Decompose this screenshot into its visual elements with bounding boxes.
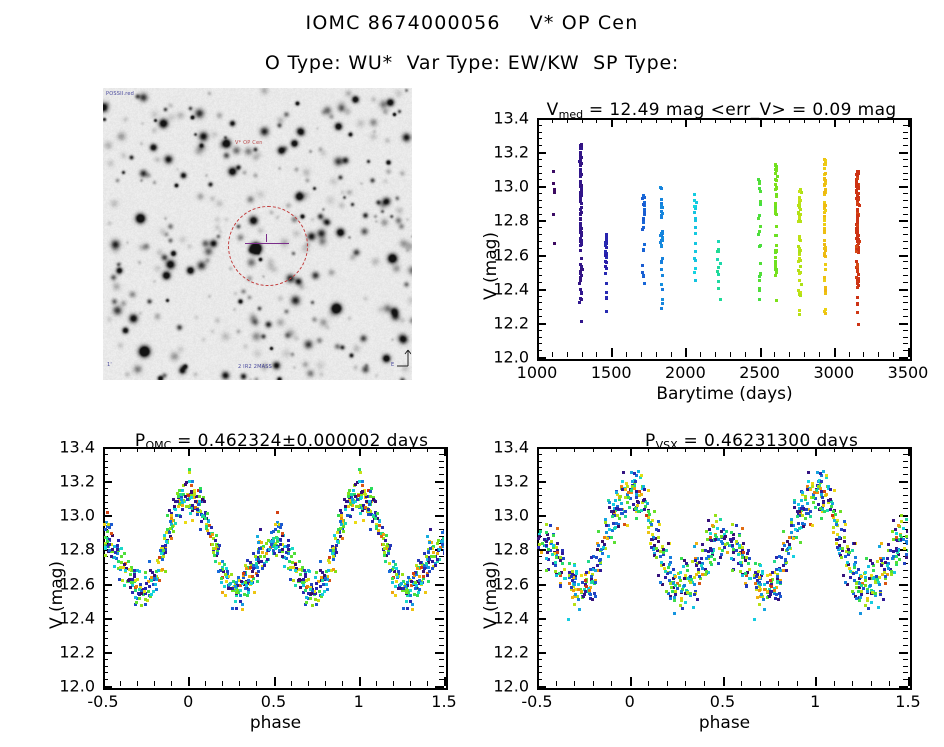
data-point: [674, 575, 677, 578]
data-point: [336, 540, 339, 543]
data-point: [871, 562, 874, 565]
data-point: [683, 584, 686, 587]
data-point: [241, 608, 244, 611]
data-point: [270, 531, 273, 534]
data-point: [281, 555, 284, 558]
data-point: [874, 592, 877, 595]
data-point: [306, 585, 309, 588]
data-point: [273, 552, 276, 555]
data-point: [235, 607, 238, 610]
data-point: [229, 587, 232, 590]
data-point: [211, 543, 214, 546]
sky-survey-label: POSSII.red: [106, 91, 134, 97]
data-point: [783, 544, 786, 547]
sky-scale-label: 1': [107, 362, 112, 368]
data-point: [359, 471, 362, 474]
data-point: [638, 490, 641, 493]
data-point: [580, 143, 583, 146]
data-point: [361, 484, 364, 487]
data-point: [798, 257, 801, 260]
data-point: [212, 551, 215, 554]
data-point: [551, 553, 554, 556]
data-point: [136, 569, 139, 572]
phase-omc-points: [103, 447, 444, 686]
data-point: [604, 265, 607, 268]
data-point: [202, 515, 205, 518]
data-point: [698, 575, 701, 578]
data-point: [110, 532, 113, 535]
data-point: [838, 536, 841, 539]
data-point: [673, 596, 676, 599]
data-point: [694, 250, 697, 253]
data-point: [123, 563, 126, 566]
y-axis-tick-label: 12.8: [493, 540, 529, 559]
y-axis-tick-label: 13.2: [493, 143, 529, 162]
data-point: [821, 496, 824, 499]
data-point: [716, 527, 719, 530]
data-point: [595, 556, 598, 559]
data-point: [640, 474, 643, 477]
data-point: [416, 567, 419, 570]
data-point: [362, 519, 365, 522]
data-point: [891, 530, 894, 533]
data-point: [198, 495, 201, 498]
data-point: [162, 549, 165, 552]
data-point: [659, 581, 662, 584]
data-point: [597, 544, 600, 547]
data-point: [825, 474, 828, 477]
data-point: [218, 544, 221, 547]
data-point: [773, 589, 776, 592]
data-point: [895, 561, 898, 564]
data-point: [549, 549, 552, 552]
data-point: [352, 489, 355, 492]
sky-object-label: V* OP Cen: [235, 140, 263, 146]
data-point: [579, 227, 582, 230]
data-point: [846, 561, 849, 564]
data-point: [580, 590, 583, 593]
data-point: [613, 527, 616, 530]
data-point: [355, 505, 358, 508]
data-point: [117, 539, 120, 542]
data-point: [758, 576, 761, 579]
data-point: [741, 546, 744, 549]
data-point: [443, 552, 444, 555]
data-point: [327, 569, 330, 572]
data-point: [329, 549, 332, 552]
data-point: [364, 493, 367, 496]
data-point: [604, 244, 607, 247]
data-point: [351, 498, 354, 501]
data-point: [622, 471, 625, 474]
data-point: [775, 299, 778, 302]
data-point: [726, 551, 729, 554]
data-point: [199, 490, 202, 493]
data-point: [843, 540, 846, 543]
data-point: [119, 566, 122, 569]
data-point: [145, 582, 148, 585]
data-point: [368, 503, 371, 506]
data-point: [774, 206, 777, 209]
data-point: [377, 532, 380, 535]
data-point: [419, 561, 422, 564]
data-point: [856, 186, 859, 189]
data-point: [776, 575, 779, 578]
data-point: [660, 283, 663, 286]
data-point: [621, 480, 624, 483]
data-point: [307, 578, 310, 581]
data-point: [795, 536, 798, 539]
data-point: [608, 501, 611, 504]
data-point: [710, 549, 713, 552]
data-point: [410, 580, 413, 583]
data-point: [563, 568, 566, 571]
data-point: [274, 523, 277, 526]
data-point: [798, 527, 801, 530]
data-point: [799, 265, 802, 268]
data-point: [698, 582, 701, 585]
data-point: [573, 603, 576, 606]
data-point: [259, 528, 262, 531]
data-point: [643, 243, 646, 246]
data-point: [399, 587, 402, 590]
data-point: [169, 520, 172, 523]
axis-tick: [435, 686, 444, 688]
data-point: [580, 189, 583, 192]
data-point: [427, 580, 430, 583]
data-point: [673, 599, 676, 602]
data-point: [671, 590, 674, 593]
data-point: [261, 567, 264, 570]
data-point: [840, 528, 843, 531]
data-point: [693, 271, 696, 274]
data-point: [855, 597, 858, 600]
data-point: [367, 513, 370, 516]
data-point: [426, 574, 429, 577]
data-point: [693, 583, 696, 586]
data-point: [809, 515, 812, 518]
data-point: [706, 538, 709, 541]
data-point: [266, 558, 269, 561]
data-point: [774, 209, 777, 212]
data-point: [779, 595, 782, 598]
data-point: [391, 577, 394, 580]
data-point: [596, 564, 599, 567]
data-point: [110, 523, 113, 526]
data-point: [798, 250, 801, 253]
data-point: [337, 514, 340, 517]
data-point: [605, 282, 608, 285]
data-point: [701, 543, 704, 546]
north-east-arrow-icon: [395, 346, 411, 368]
data-point: [782, 530, 785, 533]
data-point: [857, 277, 860, 280]
data-point: [902, 527, 905, 530]
data-point: [166, 528, 169, 531]
data-point: [759, 225, 762, 228]
data-point: [585, 585, 588, 588]
data-point: [854, 556, 857, 559]
data-point: [717, 538, 720, 541]
data-point: [823, 243, 826, 246]
data-point: [775, 249, 778, 252]
data-point: [670, 586, 673, 589]
data-point: [339, 520, 342, 523]
data-point: [771, 571, 774, 574]
y-axis-tick-label: 12.4: [493, 279, 529, 298]
data-point: [220, 581, 223, 584]
data-point: [279, 543, 282, 546]
data-point: [395, 573, 398, 576]
data-point: [787, 552, 790, 555]
data-point: [234, 585, 237, 588]
data-point: [597, 530, 600, 533]
data-point: [170, 514, 173, 517]
data-point: [742, 542, 745, 545]
data-point: [717, 562, 720, 565]
data-point: [823, 231, 826, 234]
data-point: [661, 288, 664, 291]
data-point: [774, 256, 777, 259]
data-point: [642, 499, 645, 502]
y-axis-tick-label: 13.2: [59, 472, 95, 491]
data-point: [717, 240, 720, 243]
data-point: [319, 560, 322, 563]
data-point: [108, 526, 111, 529]
data-point: [660, 187, 663, 190]
axis-tick: [537, 357, 546, 359]
data-point: [905, 518, 908, 521]
data-point: [426, 535, 429, 538]
data-point: [653, 510, 656, 513]
data-point: [784, 558, 787, 561]
data-point: [829, 488, 832, 491]
data-point: [405, 591, 408, 594]
x-axis-tick-label: 1: [810, 692, 820, 711]
data-point: [259, 555, 262, 558]
lightcurve-time-points: [537, 118, 908, 357]
data-point: [628, 506, 631, 509]
data-point: [277, 530, 280, 533]
data-point: [694, 279, 697, 282]
data-point: [823, 254, 826, 257]
data-point: [798, 293, 801, 296]
data-point: [716, 250, 719, 253]
data-point: [693, 193, 696, 196]
data-point: [798, 216, 801, 219]
data-point: [856, 282, 859, 285]
data-point: [651, 533, 654, 536]
data-point: [225, 580, 228, 583]
data-point: [538, 543, 541, 546]
data-point: [579, 200, 582, 203]
data-point: [281, 548, 284, 551]
data-point: [321, 579, 324, 582]
data-point: [430, 541, 433, 544]
data-point: [270, 543, 273, 546]
data-point: [615, 491, 618, 494]
data-point: [395, 567, 398, 570]
data-point: [579, 147, 582, 150]
data-point: [361, 490, 364, 493]
data-point: [781, 548, 784, 551]
data-point: [190, 490, 193, 493]
data-point: [830, 505, 833, 508]
data-point: [856, 286, 859, 289]
data-point: [744, 572, 747, 575]
data-point: [775, 193, 778, 196]
data-point: [824, 172, 827, 175]
data-point: [637, 470, 640, 473]
data-point: [130, 581, 133, 584]
data-point: [693, 545, 696, 548]
data-point: [614, 499, 617, 502]
data-point: [757, 233, 760, 236]
data-point: [579, 175, 582, 178]
data-point: [427, 566, 430, 569]
data-point: [196, 513, 199, 516]
data-point: [344, 522, 347, 525]
data-point: [573, 564, 576, 567]
data-point: [836, 533, 839, 536]
data-point: [121, 579, 124, 582]
data-point: [409, 594, 412, 597]
data-point: [309, 597, 312, 600]
data-point: [851, 590, 854, 593]
data-point: [305, 601, 308, 604]
data-point: [559, 559, 562, 562]
data-point: [758, 182, 761, 185]
data-point: [742, 551, 745, 554]
data-point: [343, 498, 346, 501]
data-point: [422, 575, 425, 578]
data-point: [556, 551, 559, 554]
data-point: [719, 298, 722, 301]
axis-tick: [103, 686, 112, 688]
data-point: [263, 564, 266, 567]
data-point: [832, 531, 835, 534]
data-point: [642, 274, 645, 277]
data-point: [361, 480, 364, 483]
data-point: [824, 159, 827, 162]
data-point: [812, 501, 815, 504]
data-point: [775, 187, 778, 190]
data-point: [545, 544, 548, 547]
data-point: [620, 502, 623, 505]
data-point: [441, 531, 444, 534]
data-point: [641, 197, 644, 200]
data-point: [349, 515, 352, 518]
x-axis-tick-label: 0.5: [710, 692, 735, 711]
data-point: [759, 190, 762, 193]
data-point: [867, 607, 870, 610]
data-point: [229, 582, 232, 585]
data-point: [185, 505, 188, 508]
object-type-subtitle: O Type: WU* Var Type: EW/KW SP Type:: [0, 52, 944, 74]
data-point: [871, 591, 874, 594]
data-point: [256, 574, 259, 577]
data-point: [240, 580, 243, 583]
data-point: [856, 170, 859, 173]
data-point: [384, 560, 387, 563]
data-point: [259, 547, 262, 550]
data-point: [276, 511, 279, 514]
data-point: [895, 555, 898, 558]
data-point: [245, 567, 248, 570]
data-point: [892, 519, 895, 522]
data-point: [669, 571, 672, 574]
data-point: [315, 571, 318, 574]
data-point: [680, 590, 683, 593]
data-point: [265, 542, 268, 545]
data-point: [118, 578, 121, 581]
data-point: [840, 556, 843, 559]
data-point: [177, 495, 180, 498]
data-point: [856, 215, 859, 218]
data-point: [190, 496, 193, 499]
data-point: [580, 184, 583, 187]
data-point: [695, 542, 698, 545]
data-point: [433, 555, 436, 558]
data-point: [351, 508, 354, 511]
data-point: [372, 515, 375, 518]
data-point: [824, 209, 827, 212]
data-point: [547, 548, 550, 551]
data-point: [689, 592, 692, 595]
data-point: [668, 579, 671, 582]
data-point: [758, 187, 761, 190]
data-point: [369, 528, 372, 531]
data-point: [283, 556, 286, 559]
data-point: [773, 560, 776, 563]
data-point: [780, 556, 783, 559]
data-point: [615, 507, 618, 510]
data-point: [879, 593, 882, 596]
data-point: [604, 260, 607, 263]
data-point: [594, 581, 597, 584]
data-point: [637, 501, 640, 504]
data-point: [539, 530, 542, 533]
data-point: [681, 607, 684, 610]
data-point: [172, 530, 175, 533]
data-point: [224, 594, 227, 597]
data-point: [193, 493, 196, 496]
data-point: [642, 194, 645, 197]
data-point: [257, 570, 260, 573]
data-point: [855, 245, 858, 248]
data-point: [725, 530, 728, 533]
data-point: [246, 559, 249, 562]
y-axis-tick-label: 13.4: [493, 109, 529, 128]
data-point: [798, 313, 801, 316]
data-point: [599, 569, 602, 572]
data-point: [642, 249, 645, 252]
data-point: [637, 510, 640, 513]
data-point: [176, 492, 179, 495]
data-point: [404, 585, 407, 588]
data-point: [605, 291, 608, 294]
data-point: [574, 593, 577, 596]
data-point: [605, 524, 608, 527]
data-point: [342, 530, 345, 533]
data-point: [661, 298, 664, 301]
data-point: [793, 506, 796, 509]
data-point: [807, 480, 810, 483]
data-point: [730, 531, 733, 534]
data-point: [882, 598, 885, 601]
data-point: [835, 538, 838, 541]
data-point: [645, 514, 648, 517]
